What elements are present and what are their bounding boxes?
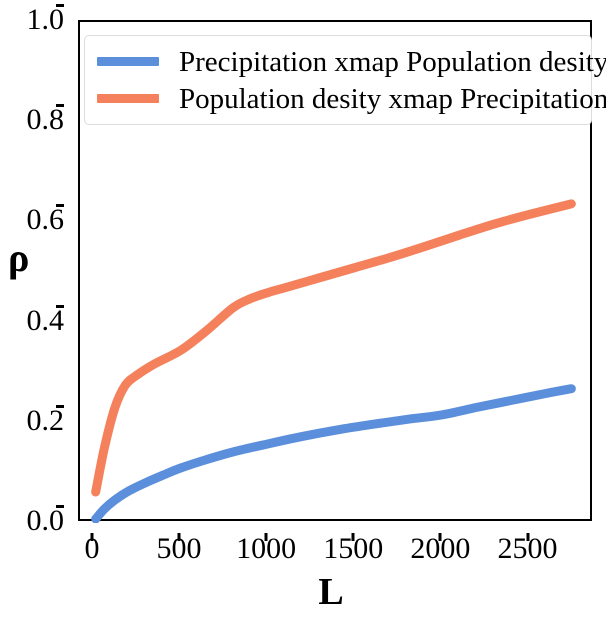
x-tick-label: 500 (157, 533, 202, 565)
chart-figure: 0.00.20.40.60.81.0 05001000150020002500 … (0, 0, 606, 620)
legend-label: Population desity xmap Precipitation (179, 83, 606, 115)
y-tick-label: 1.0 (27, 4, 65, 36)
legend-swatch-orange (97, 94, 159, 103)
y-tick-label: 0.4 (27, 305, 65, 337)
x-tick-label: 0 (84, 533, 99, 565)
x-tick-label: 1000 (236, 533, 296, 565)
legend-label: Precipitation xmap Population desity (179, 46, 606, 78)
y-axis-title: ρ (8, 238, 29, 278)
x-axis-title: L (0, 572, 606, 612)
legend-item-precipitation-xmap-population[interactable]: Precipitation xmap Population desity (97, 43, 581, 80)
plot-area: Precipitation xmap Population desity Pop… (78, 20, 592, 521)
legend-swatch-blue (97, 57, 159, 66)
x-tick-label: 1500 (323, 533, 383, 565)
x-tick-label: 2000 (410, 533, 470, 565)
y-tick-label: 0.0 (27, 505, 65, 537)
series-line (96, 389, 572, 519)
legend-item-population-xmap-precipitation[interactable]: Population desity xmap Precipitation (97, 80, 581, 117)
series-line (96, 204, 572, 492)
y-tick-label: 0.2 (27, 405, 65, 437)
y-tick-label: 0.6 (27, 204, 65, 236)
y-tick-label: 0.8 (27, 104, 65, 136)
legend: Precipitation xmap Population desity Pop… (84, 35, 592, 125)
x-tick-label: 2500 (498, 533, 558, 565)
